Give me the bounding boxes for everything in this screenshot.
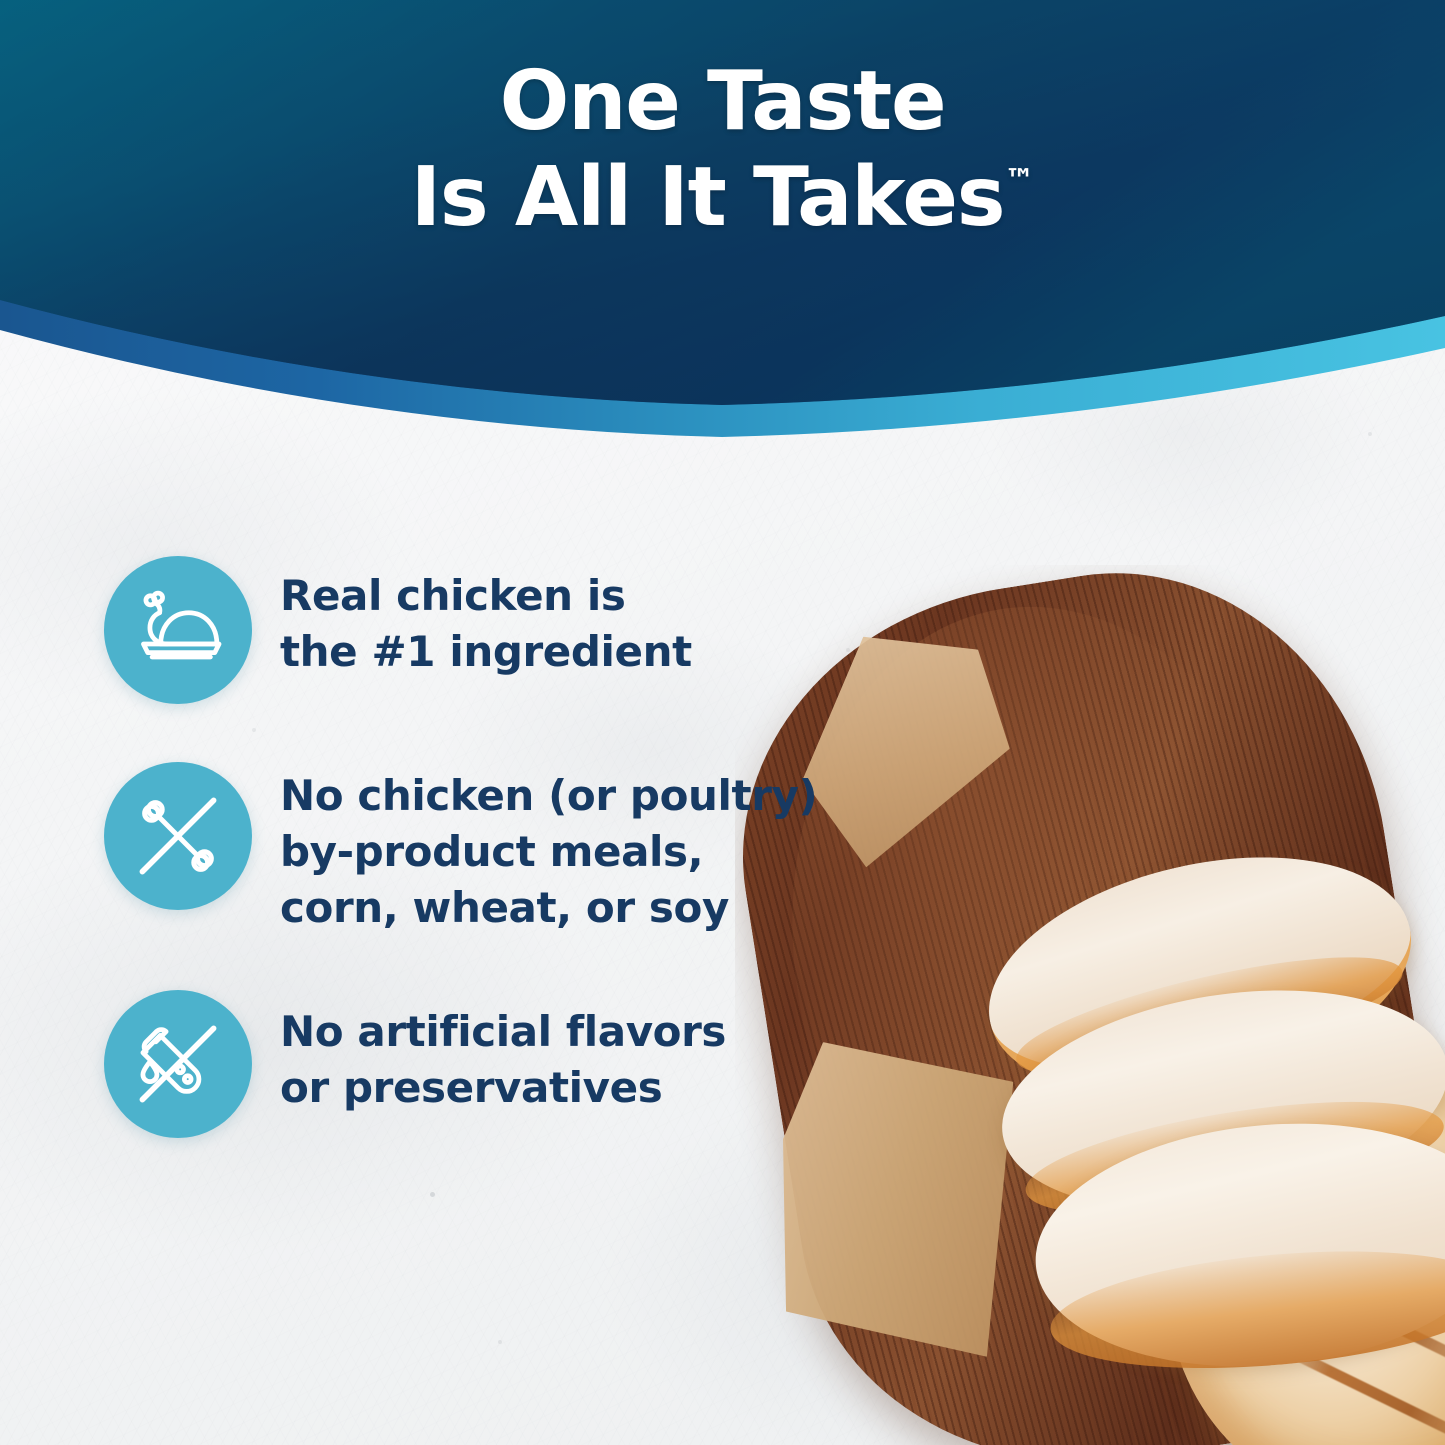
marble-speck xyxy=(430,1192,435,1197)
feature-item-real-chicken: Real chicken is the #1 ingredient xyxy=(104,556,692,704)
no-test-tube-icon xyxy=(124,1010,232,1118)
feature-text: No chicken (or poultry) by-product meals… xyxy=(280,762,817,936)
title-line-two-text: Is All It Takes xyxy=(411,150,1005,245)
feature-item-no-byproducts: No chicken (or poultry) by-product meals… xyxy=(104,762,817,936)
feature-item-no-artificial: No artificial flavors or preservatives xyxy=(104,990,726,1138)
title-line-one: One Taste xyxy=(0,60,1445,144)
roast-chicken-platter-icon xyxy=(124,576,232,684)
feature-badge xyxy=(104,990,252,1138)
marble-speck xyxy=(252,728,256,732)
feature-text: No artificial flavors or preservatives xyxy=(280,990,726,1116)
feature-text: Real chicken is the #1 ingredient xyxy=(280,556,692,680)
marble-speck xyxy=(498,1340,502,1344)
feature-badge xyxy=(104,556,252,704)
product-photo xyxy=(735,565,1445,1445)
no-bone-icon xyxy=(124,782,232,890)
title-line-two: Is All It Takes™ xyxy=(0,156,1445,240)
header-banner: One Taste Is All It Takes™ xyxy=(0,0,1445,470)
trademark-symbol: ™ xyxy=(1004,163,1034,198)
poster-canvas: One Taste Is All It Takes™ xyxy=(0,0,1445,1445)
page-title: One Taste Is All It Takes™ xyxy=(0,60,1445,239)
feature-badge xyxy=(104,762,252,910)
